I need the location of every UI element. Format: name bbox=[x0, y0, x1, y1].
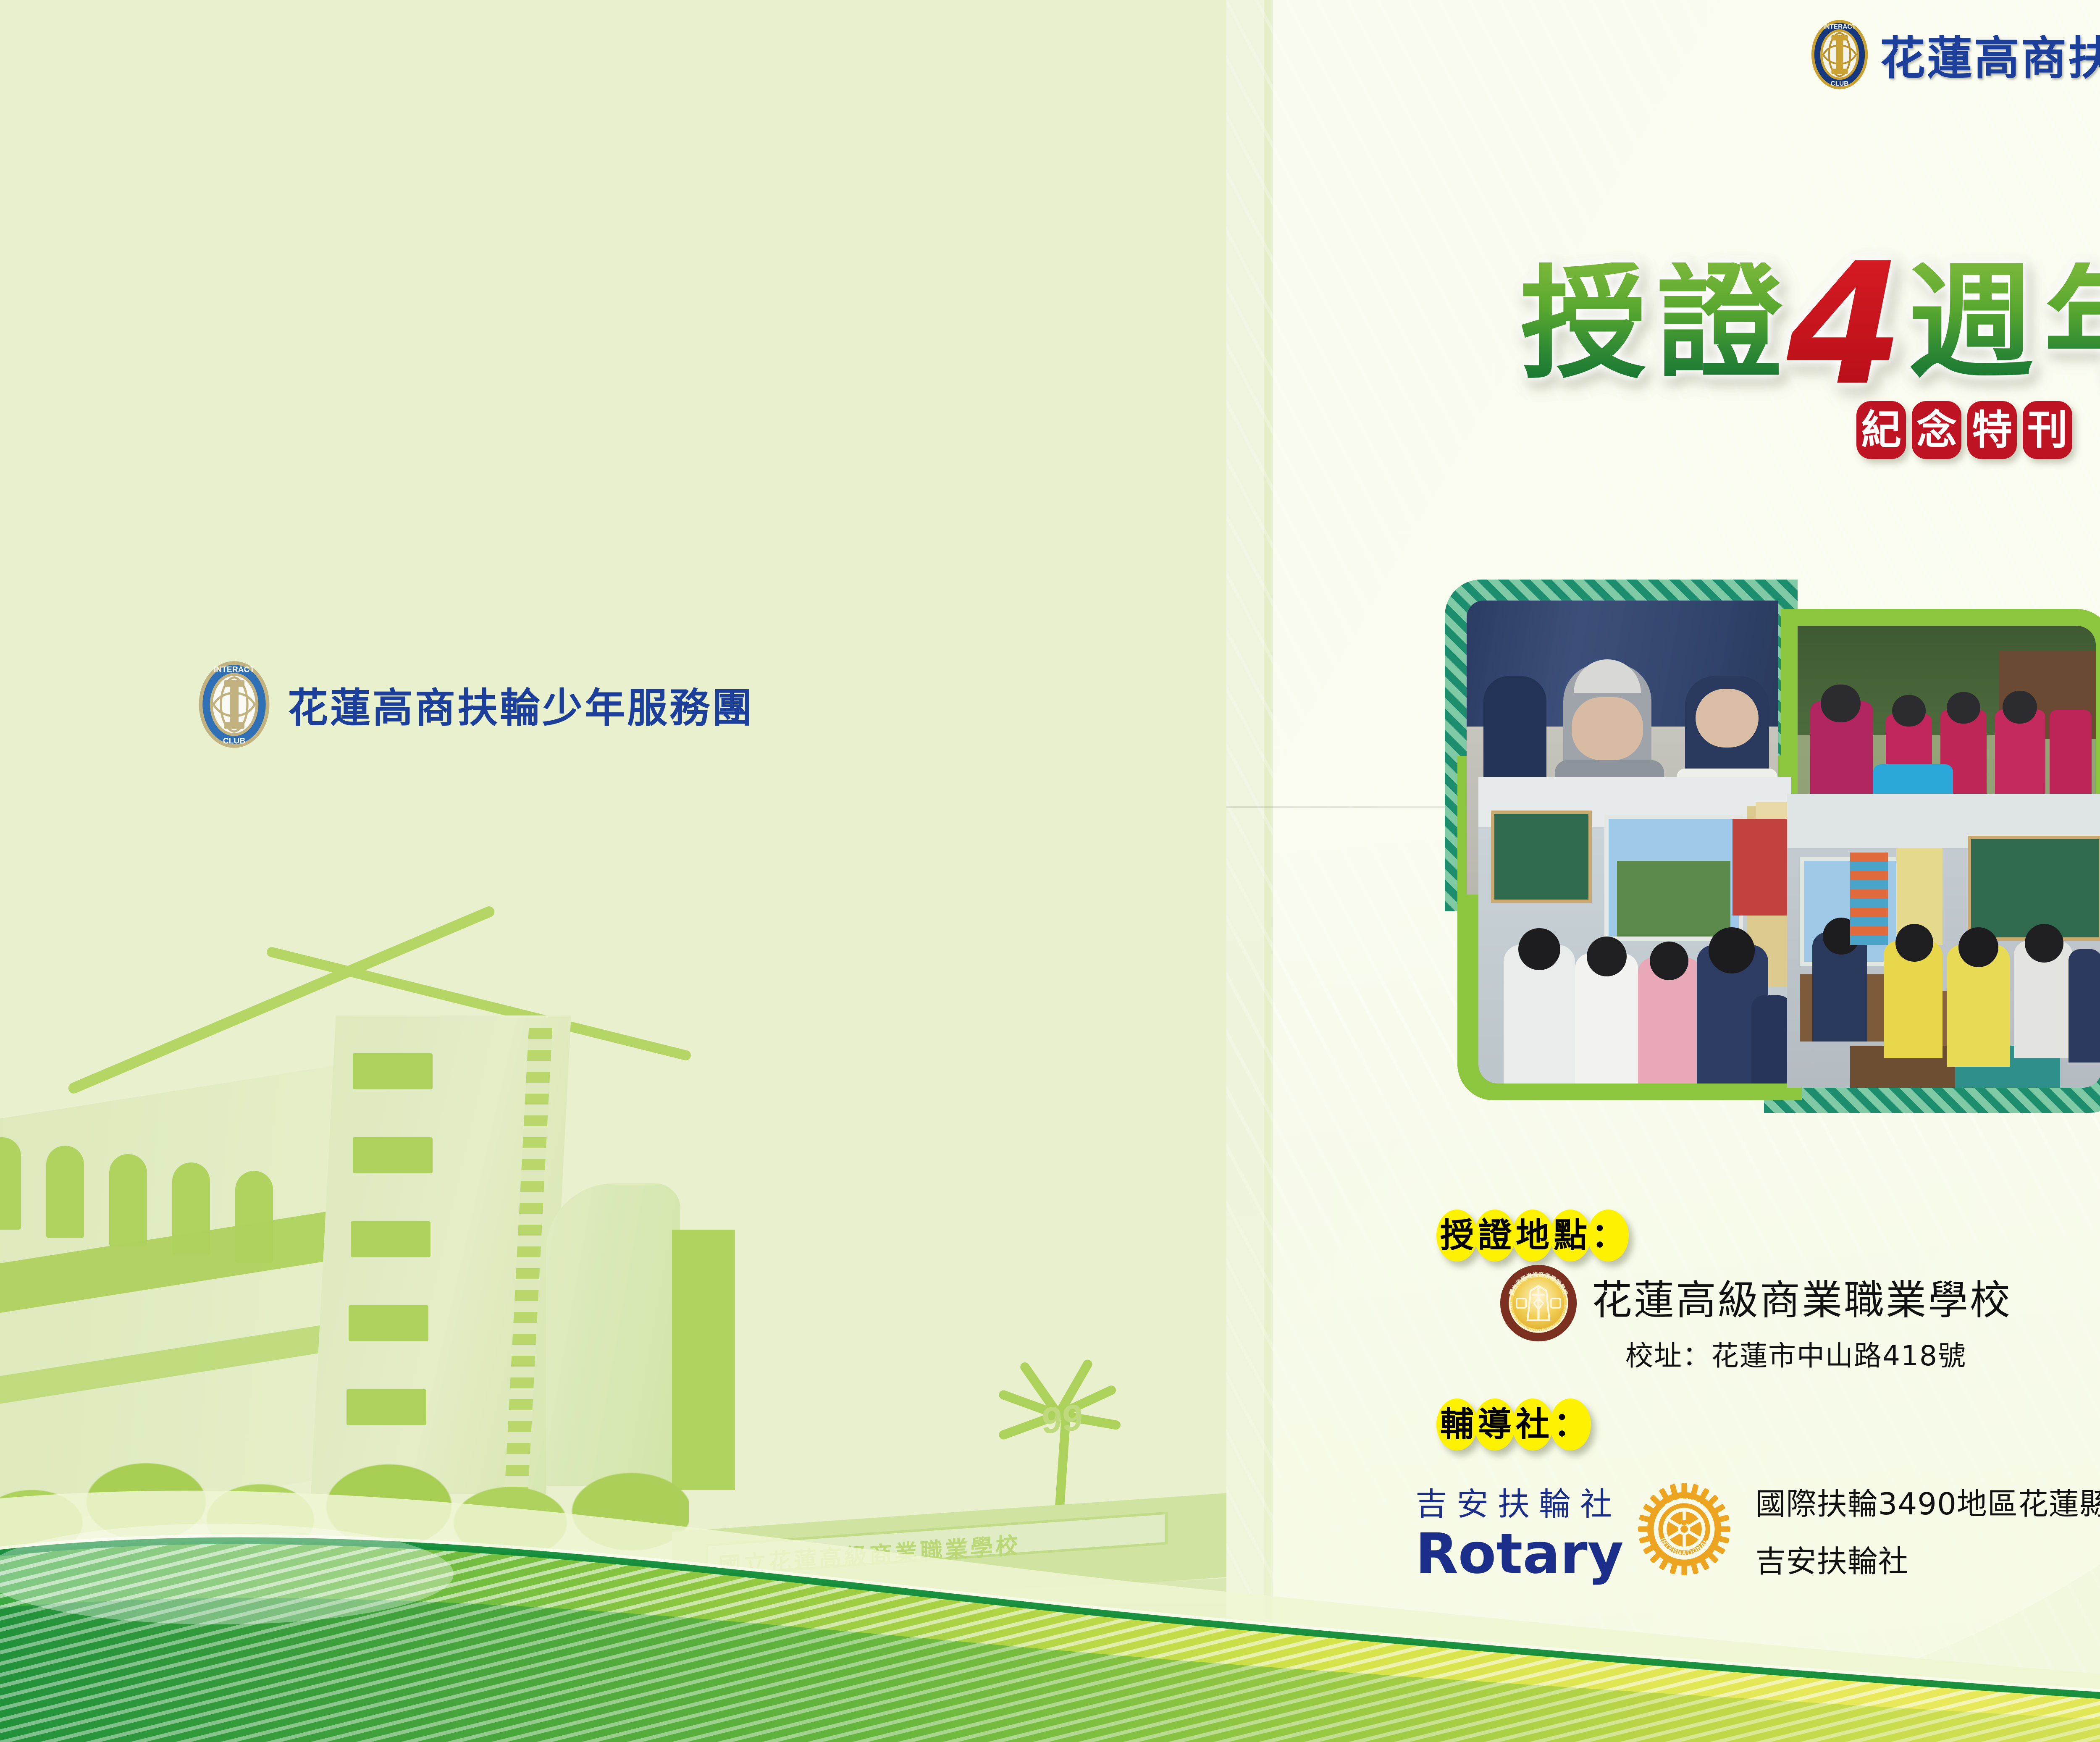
venue-label-char-3: 地 bbox=[1512, 1209, 1553, 1262]
sponsor-club-name-en: Rotary bbox=[1415, 1526, 1624, 1582]
back-cover-page: 國立花蓮高級商業職業學校 歡迎蒞臨指導 99 INTERACT bbox=[0, 0, 1226, 1742]
sponsor-info-block: 吉安扶輪社 Rotary bbox=[1415, 1478, 2100, 1582]
svg-text:CLUB: CLUB bbox=[223, 737, 246, 745]
title-char-1: 授 bbox=[1520, 262, 1646, 382]
sponsor-club-line: 吉安扶輪社 bbox=[1756, 1537, 2100, 1581]
front-cover-page: INTERACT CLUB 花蓮高商扶輪少年服務團 授 證 4 週 年 紀 念 … bbox=[1226, 0, 2100, 1742]
back-cover-org-name: 花蓮高商扶輪少年服務團 bbox=[288, 675, 754, 734]
brochure-cover-spread: 國立花蓮高級商業職業學校 歡迎蒞臨指導 99 INTERACT bbox=[0, 0, 2100, 1742]
year-badge: 99 bbox=[1042, 1396, 1083, 1443]
rotary-international-wheel-icon: ROTARY INTERNATIONAL bbox=[1638, 1483, 1730, 1577]
sponsor-label-char-2: 導 bbox=[1474, 1398, 1515, 1451]
svg-text:INTERACT: INTERACT bbox=[1823, 23, 1856, 30]
venue-label-char-1: 授 bbox=[1436, 1209, 1478, 1262]
interact-club-emblem-icon: INTERACT CLUB bbox=[197, 659, 271, 750]
venue-school-name: 花蓮高級商業職業學校 bbox=[1592, 1267, 2012, 1326]
seal-char-4: 刊 bbox=[2023, 401, 2072, 459]
title-char-3: 週 bbox=[1908, 262, 2034, 382]
seal-char-3: 特 bbox=[1967, 401, 2017, 459]
venue-label-badge: 授 證 地 點 ： bbox=[1436, 1209, 1625, 1262]
venue-label-char-4: 點 bbox=[1550, 1209, 1591, 1262]
front-cover-org-name: 花蓮高商扶輪少年服務團 bbox=[1880, 22, 2100, 87]
sponsor-label-char-3: 社 bbox=[1512, 1398, 1553, 1451]
venue-label-char-2: 證 bbox=[1474, 1209, 1515, 1262]
school-building-photo-watermark: 國立花蓮高級商業職業學校 歡迎蒞臨指導 99 bbox=[0, 818, 1226, 1742]
venue-label-char-5: ： bbox=[1588, 1209, 1629, 1262]
back-cover-logo-lockup: INTERACT CLUB 花蓮高商扶輪少年服務團 bbox=[197, 659, 754, 750]
subtitle-seal-badge: 紀 念 特 刊 bbox=[1856, 401, 2072, 459]
svg-text:CLUB: CLUB bbox=[1831, 80, 1849, 87]
sponsor-club-name-cn: 吉安扶輪社 bbox=[1415, 1478, 1624, 1524]
title-char-4: 年 bbox=[2044, 262, 2100, 382]
front-cover-header-lockup: INTERACT CLUB 花蓮高商扶輪少年服務團 bbox=[1810, 18, 2100, 91]
page-title: 授 證 4 週 年 bbox=[1520, 256, 2100, 382]
interact-club-emblem-icon: INTERACT CLUB bbox=[1810, 18, 1869, 91]
sponsor-label-badge: 輔 導 社 ： bbox=[1436, 1398, 1588, 1451]
title-char-2: 證 bbox=[1656, 262, 1782, 382]
venue-info-block: 國立花蓮高級商業職業學校 NATIONAL HUALIEN COMMERCIAL… bbox=[1499, 1264, 2012, 1374]
photo-classroom-activity bbox=[1478, 777, 1791, 1084]
seal-char-1: 紀 bbox=[1856, 401, 1906, 459]
photo-classroom-service bbox=[1787, 794, 2100, 1088]
sponsor-district-line: 國際扶輪3490地區花蓮縣第一分區 bbox=[1756, 1479, 2100, 1523]
venue-address: 校址：花蓮市中山路418號 bbox=[1592, 1333, 2012, 1374]
sponsor-label-char-1: 輔 bbox=[1436, 1398, 1478, 1451]
title-anniversary-number: 4 bbox=[1787, 256, 1903, 394]
hualien-commercial-high-school-crest-icon: 國立花蓮高級商業職業學校 NATIONAL HUALIEN COMMERCIAL… bbox=[1499, 1264, 1578, 1344]
svg-text:INTERACT: INTERACT bbox=[214, 666, 255, 674]
sponsor-label-char-4: ： bbox=[1550, 1398, 1591, 1451]
seal-char-2: 念 bbox=[1912, 401, 1961, 459]
photo-collage bbox=[1445, 567, 2100, 1113]
